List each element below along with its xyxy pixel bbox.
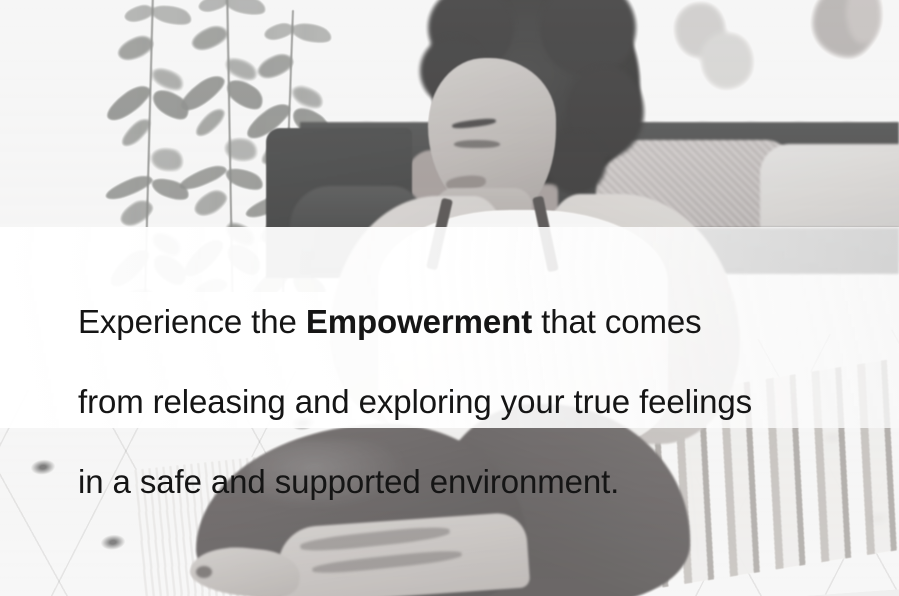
caption-text: Experience the Empowerment that comes fr… xyxy=(78,262,878,502)
toe xyxy=(196,566,212,578)
caption-emphasis-word: Empowerment xyxy=(306,303,532,340)
closed-eye xyxy=(454,140,500,148)
caption-line1-before: Experience the xyxy=(78,303,306,340)
caption-line3: in a safe and supported environment. xyxy=(78,463,619,500)
caption-line1-after: that comes xyxy=(532,303,701,340)
hero-banner: Experience the Empowerment that comes fr… xyxy=(0,0,899,596)
caption-line2: from releasing and exploring your true f… xyxy=(78,383,752,420)
